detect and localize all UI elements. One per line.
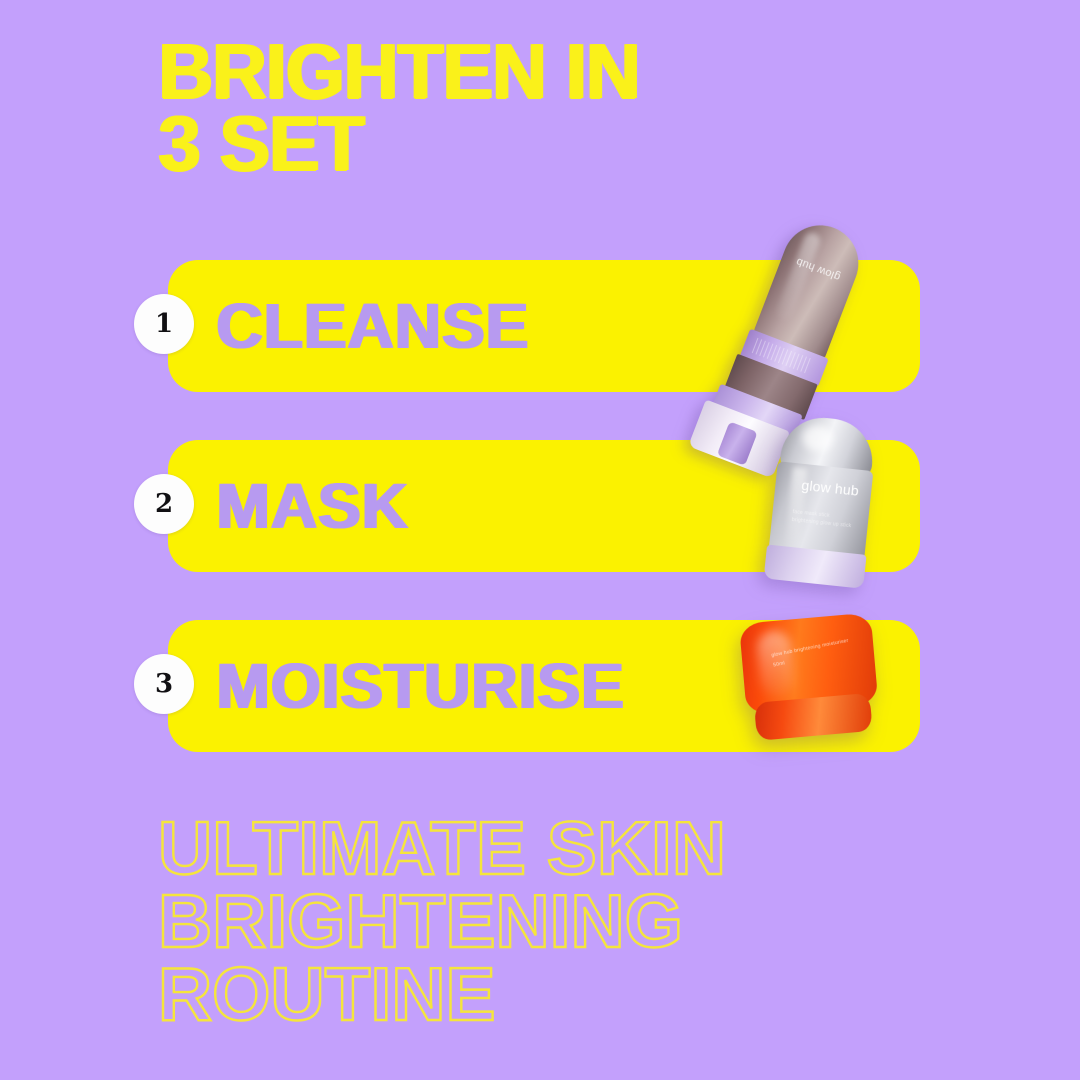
mask-stick-image: glow hub face mask stick brightening glo… [762,413,883,589]
footer-tagline: ULTIMATE SKIN BRIGHTENING ROUTINE [158,812,978,1030]
step-label: MASK [216,440,408,572]
poster-canvas: BRIGHTEN IN 3 SET CLEANSE 1 MASK 2 MOIST… [0,0,1080,1080]
step-label: CLEANSE [216,260,529,392]
moisturiser-jar-image: glow hub brightening moisturiser 50ml [739,612,881,745]
step-number: 2 [155,491,173,517]
step-number-badge: 2 [134,474,194,534]
step-row[interactable]: MASK 2 [0,440,1080,572]
step-number: 3 [155,671,173,697]
step-number-badge: 1 [134,294,194,354]
step-number-badge: 3 [134,654,194,714]
step-number: 1 [155,311,173,337]
step-row[interactable]: MOISTURISE 3 [0,620,1080,752]
step-label: MOISTURISE [216,620,624,752]
step-row[interactable]: CLEANSE 1 [0,260,1080,392]
